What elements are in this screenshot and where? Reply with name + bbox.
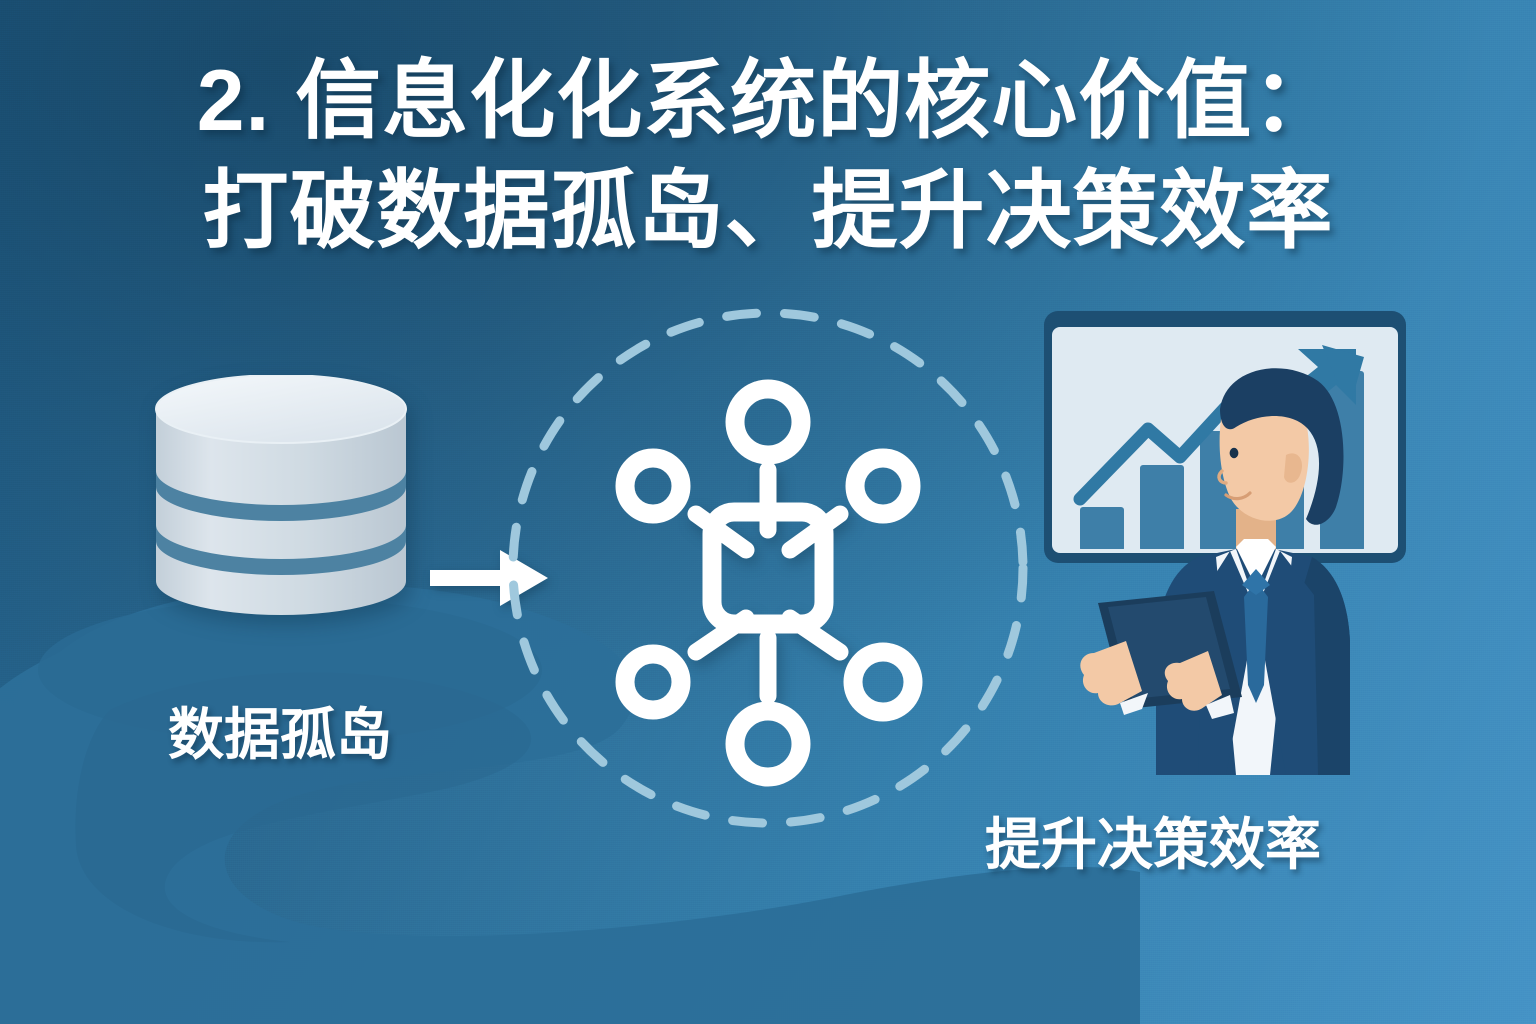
title-line-2: 打破数据孤岛、提升决策效率: [0, 156, 1536, 266]
network-hub-group: [498, 300, 1038, 840]
caption-decision-efficiency: 提升决策效率: [985, 800, 1321, 881]
database-cylinder-icon: [150, 375, 412, 627]
caption-data-silo: 数据孤岛: [168, 690, 392, 771]
page-title: 2. 信息化化系统的核心价值： 打破数据孤岛、提升决策效率: [0, 46, 1536, 266]
title-line-1: 2. 信息化化系统的核心价值：: [197, 53, 1340, 149]
decision-scene-group: [1030, 305, 1430, 825]
poster-canvas: 2. 信息化化系统的核心价值： 打破数据孤岛、提升决策效率: [0, 0, 1536, 1024]
